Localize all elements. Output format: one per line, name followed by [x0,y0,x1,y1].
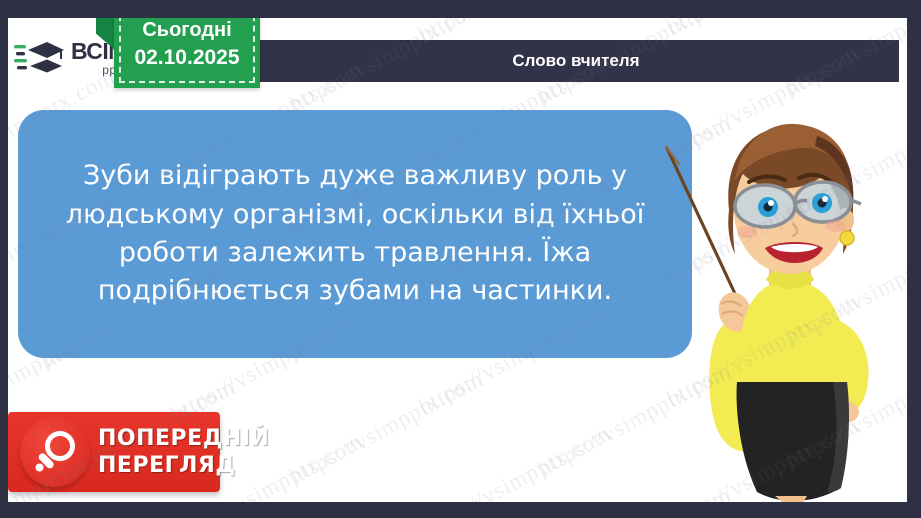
magnifier-icon [20,417,90,487]
date-badge-date: 02.10.2025 [134,46,239,70]
preview-button[interactable]: ПОПЕРЕДНІЙ ПЕРЕГЛЯД [8,412,220,492]
title-text: Слово вчителя [512,51,639,71]
date-badge-today-label: Сьогодні [142,19,231,42]
graduation-cap-icon [14,37,70,79]
slide-frame: Слово вчителя ВСІМ [0,0,921,518]
date-badge: Сьогодні 02.10.2025 [114,18,260,88]
preview-label-line2: ПЕРЕГЛЯД [98,455,269,477]
title-bar: Слово вчителя [253,40,899,82]
slide-canvas: Слово вчителя ВСІМ [8,18,907,502]
teacher-illustration [665,76,907,502]
preview-button-label: ПОПЕРЕДНІЙ ПЕРЕГЛЯД [98,428,269,477]
content-panel: Зуби відіграють дуже важливу роль у людс… [18,110,692,358]
preview-label-line1: ПОПЕРЕДНІЙ [98,428,269,450]
content-text: Зуби відіграють дуже важливу роль у людс… [52,157,658,310]
